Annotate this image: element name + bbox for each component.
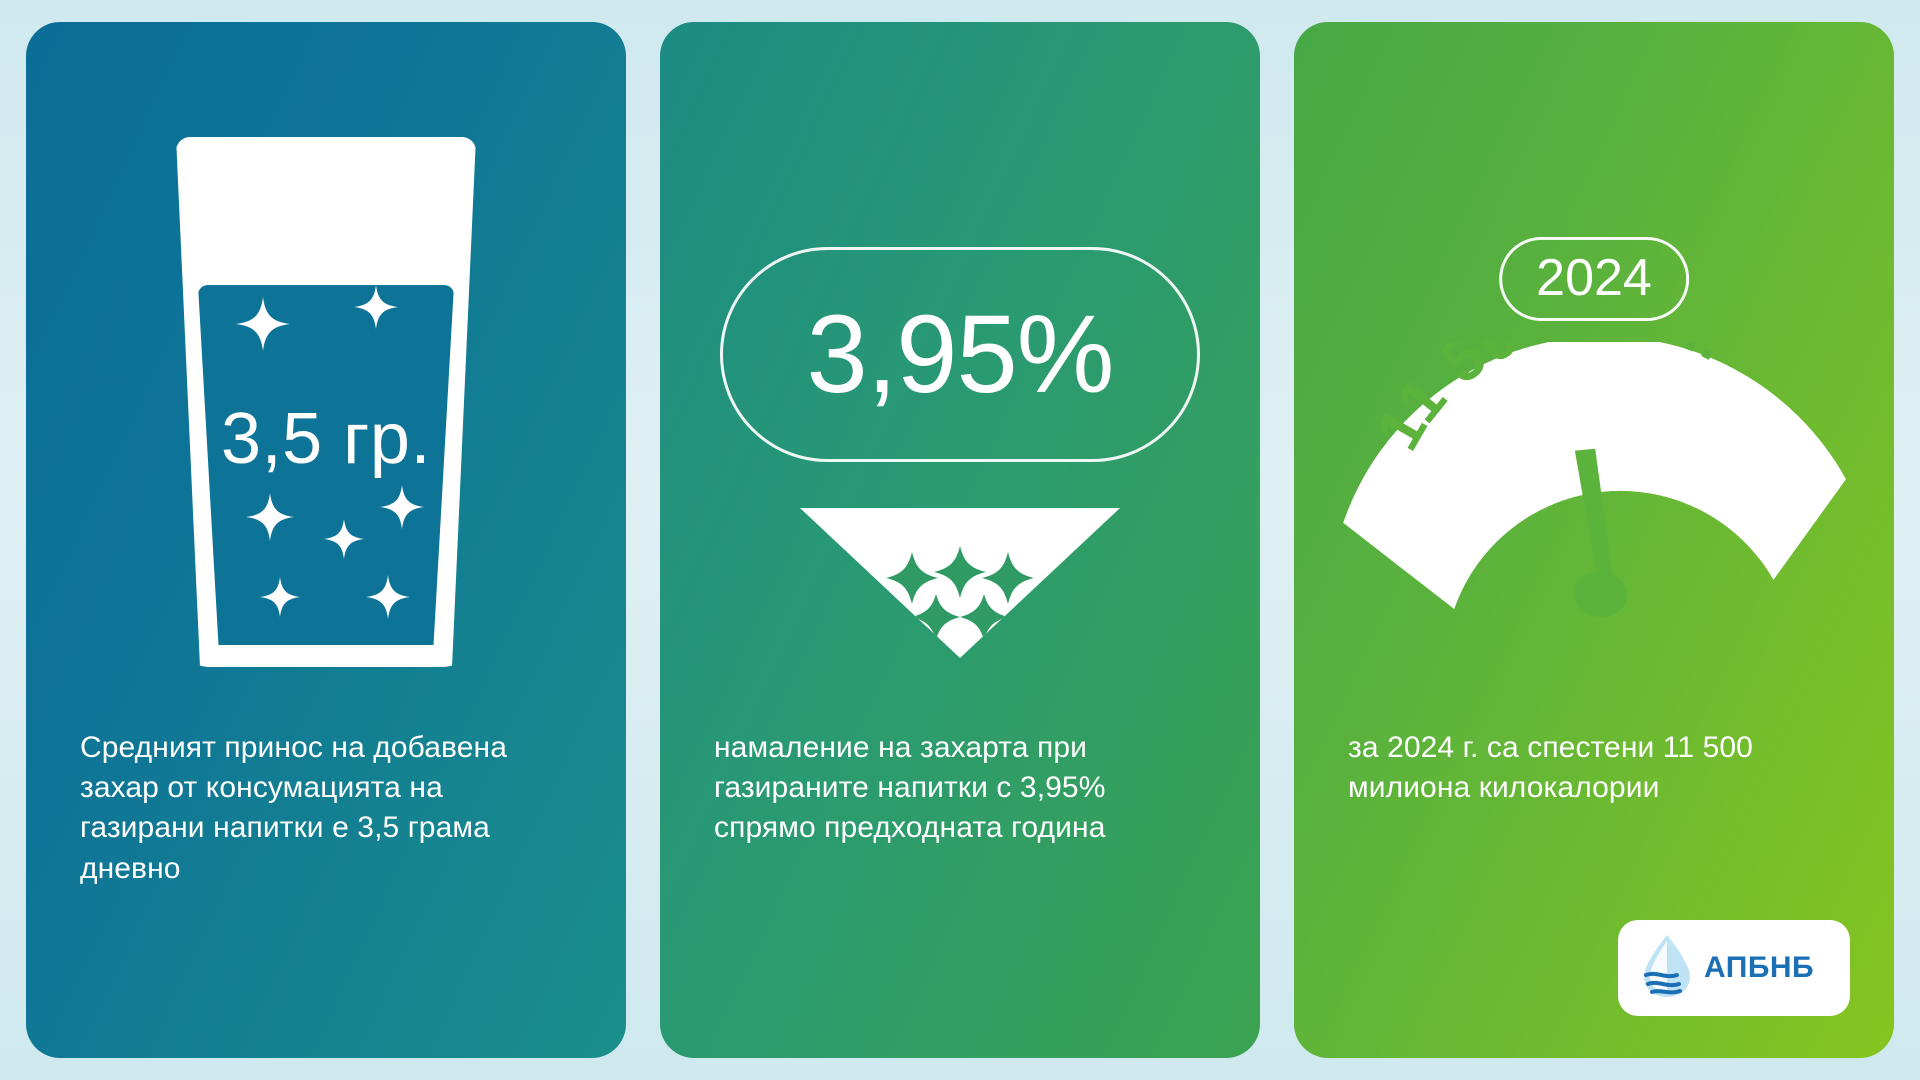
sparkle-icon bbox=[236, 297, 290, 351]
year-badge: 2024 bbox=[1499, 237, 1689, 321]
card-2-value: 3,95% bbox=[807, 300, 1114, 410]
card-3-caption: за 2024 г. са спестени 11 500 милиона ки… bbox=[1294, 728, 1894, 808]
card-2-visual: 3,95% bbox=[660, 22, 1260, 662]
card-1-value: 3,5 гр. bbox=[198, 403, 454, 475]
percent-pill-badge: 3,95% bbox=[720, 247, 1200, 462]
sparkle-icon bbox=[324, 519, 364, 559]
droplet-icon bbox=[1636, 931, 1698, 1006]
glass-liquid: 3,5 гр. bbox=[198, 285, 454, 645]
sparkle-icon bbox=[366, 575, 410, 619]
sparkle-icon bbox=[246, 493, 294, 541]
down-triangle-sparkle-icon bbox=[800, 508, 1120, 658]
card-3-visual: 2024 11 500 млн. bbox=[1294, 22, 1894, 662]
sparkle-icon bbox=[380, 485, 424, 529]
card-calories-saved-gauge: 2024 11 500 млн. bbox=[1294, 22, 1894, 1058]
card-2-caption: намаление на захарта при газираните напи… bbox=[660, 728, 1260, 849]
sparkle-icon bbox=[260, 577, 300, 617]
card-1-caption: Средният принос на добавена захар от кон… bbox=[26, 728, 626, 889]
sparkle-icon bbox=[354, 285, 398, 329]
water-glass-icon: 3,5 гр. bbox=[176, 137, 476, 667]
gauge-icon: 11 500 млн. bbox=[1314, 342, 1874, 632]
brand-logo[interactable]: АПБНБ bbox=[1618, 920, 1850, 1016]
infographic-stage: 3,5 гр. Средният принос на добавена заха… bbox=[0, 0, 1920, 1080]
card-added-sugar-glass: 3,5 гр. Средният принос на добавена заха… bbox=[26, 22, 626, 1058]
card-sugar-reduction-percent: 3,95% намаление на bbox=[660, 22, 1260, 1058]
logo-text: АПБНБ bbox=[1704, 951, 1814, 985]
card-1-visual: 3,5 гр. bbox=[26, 22, 626, 662]
